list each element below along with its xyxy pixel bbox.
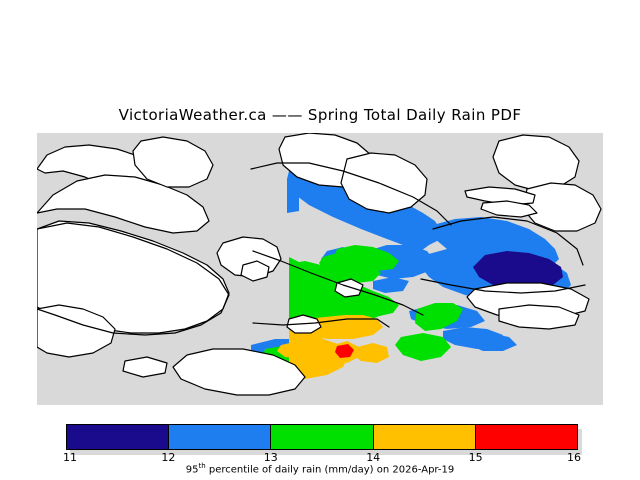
colorbar-segment-11-12[interactable] xyxy=(67,425,168,449)
colorbar-segments[interactable] xyxy=(66,424,578,450)
colorbar-caption: 95th percentile of daily rain (mm/day) o… xyxy=(0,462,640,475)
colorbar-segment-14-15[interactable] xyxy=(373,425,475,449)
region-nw-sliver-a xyxy=(287,177,299,213)
colorbar-segment-13-14[interactable] xyxy=(270,425,372,449)
map-panel[interactable] xyxy=(37,133,603,405)
map-canvas[interactable] xyxy=(37,133,603,405)
colorbar-segment-12-13[interactable] xyxy=(168,425,270,449)
page-title: VictoriaWeather.ca —— Spring Total Daily… xyxy=(0,106,640,124)
caption-superscript: th xyxy=(199,462,206,470)
caption-rest: percentile of daily rain (mm/day) on 202… xyxy=(206,464,455,475)
colorbar-segment-15-16[interactable] xyxy=(475,425,577,449)
weather-map-figure: VictoriaWeather.ca —— Spring Total Daily… xyxy=(0,0,640,480)
colorbar[interactable] xyxy=(66,424,578,450)
caption-prefix: 95 xyxy=(186,464,199,475)
